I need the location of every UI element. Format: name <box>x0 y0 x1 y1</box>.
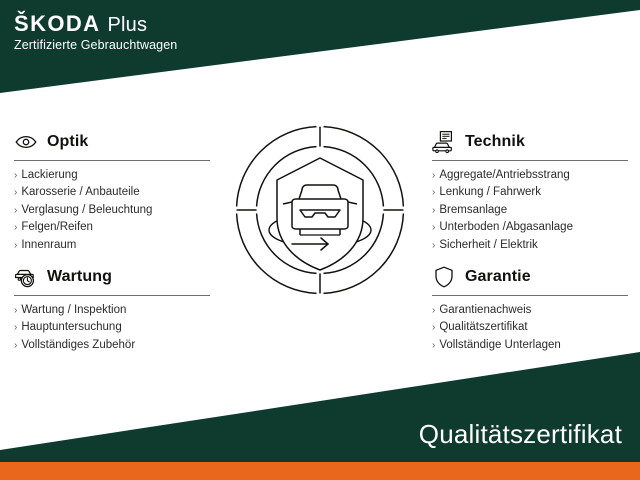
list-item: ›Vollständige Unterlagen <box>432 337 632 354</box>
brand-subtitle: Zertifizierte Gebrauchtwagen <box>14 39 177 53</box>
section-technik: Technik ›Aggregate/Antriebsstrang ›Lenku… <box>432 129 632 254</box>
chevron-right-icon: › <box>14 168 17 184</box>
chevron-right-icon: › <box>14 185 17 201</box>
chevron-right-icon: › <box>432 185 435 201</box>
section-garantie-list: ›Garantienachweis ›Qualitätszertifikat ›… <box>432 296 632 354</box>
chevron-right-icon: › <box>14 338 17 354</box>
chevron-right-icon: › <box>14 203 17 219</box>
list-item: ›Bremsanlage <box>432 202 632 219</box>
chevron-right-icon: › <box>432 168 435 184</box>
chevron-right-icon: › <box>14 303 17 319</box>
section-optik-title: Optik <box>47 134 88 150</box>
list-item-label: Wartung / Inspektion <box>21 302 126 318</box>
chevron-right-icon: › <box>432 303 435 319</box>
footer-title: Qualitätszertifikat <box>419 421 622 447</box>
list-item: ›Garantienachweis <box>432 302 632 319</box>
brand-name-row: ŠKODA Plus <box>14 13 177 35</box>
list-item-label: Felgen/Reifen <box>21 219 93 235</box>
car-service-clock-icon <box>14 265 38 289</box>
section-optik-header: Optik <box>14 129 214 155</box>
list-item: ›Unterboden /Abgasanlage <box>432 219 632 236</box>
list-item-label: Garantienachweis <box>439 302 531 318</box>
list-item-label: Verglasung / Beleuchtung <box>21 202 152 218</box>
brand-lockup: ŠKODA Plus Zertifizierte Gebrauchtwagen <box>14 13 177 53</box>
list-item: ›Sicherheit / Elektrik <box>432 237 632 254</box>
list-item-label: Vollständige Unterlagen <box>439 337 560 353</box>
list-item: ›Verglasung / Beleuchtung <box>14 202 214 219</box>
section-technik-list: ›Aggregate/Antriebsstrang ›Lenkung / Fah… <box>432 161 632 254</box>
section-optik-list: ›Lackierung ›Karosserie / Anbauteile ›Ve… <box>14 161 214 254</box>
list-item: ›Qualitätszertifikat <box>432 319 632 336</box>
list-item-label: Vollständiges Zubehör <box>21 337 135 353</box>
section-wartung: Wartung ›Wartung / Inspektion ›Hauptunte… <box>14 264 214 354</box>
car-document-icon <box>432 130 456 154</box>
section-optik: Optik ›Lackierung ›Karosserie / Anbautei… <box>14 129 214 254</box>
shield-icon <box>432 265 456 289</box>
chevron-right-icon: › <box>432 338 435 354</box>
car-body <box>292 199 348 229</box>
section-wartung-list: ›Wartung / Inspektion ›Hauptuntersuchung… <box>14 296 214 354</box>
list-item-label: Qualitätszertifikat <box>439 319 527 335</box>
section-garantie: Garantie ›Garantienachweis ›Qualitätszer… <box>432 264 632 354</box>
chevron-right-icon: › <box>14 320 17 336</box>
chevron-right-icon: › <box>432 220 435 236</box>
list-item-label: Karosserie / Anbauteile <box>21 184 139 200</box>
brand-name: ŠKODA <box>14 13 100 35</box>
section-technik-title: Technik <box>465 134 525 150</box>
section-technik-header: Technik <box>432 129 632 155</box>
list-item-label: Aggregate/Antriebsstrang <box>439 167 569 183</box>
chevron-right-icon: › <box>14 220 17 236</box>
section-garantie-title: Garantie <box>465 269 531 285</box>
list-item: ›Innenraum <box>14 237 214 254</box>
eye-icon <box>14 130 38 154</box>
list-item-label: Bremsanlage <box>439 202 507 218</box>
list-item: ›Wartung / Inspektion <box>14 302 214 319</box>
list-item: ›Felgen/Reifen <box>14 219 214 236</box>
list-item: ›Hauptuntersuchung <box>14 319 214 336</box>
list-item-label: Hauptuntersuchung <box>21 319 121 335</box>
list-item-label: Lackierung <box>21 167 77 183</box>
section-garantie-header: Garantie <box>432 264 632 290</box>
list-item: ›Aggregate/Antriebsstrang <box>432 167 632 184</box>
list-item: ›Vollständiges Zubehör <box>14 337 214 354</box>
chevron-right-icon: › <box>432 320 435 336</box>
list-item-label: Unterboden /Abgasanlage <box>439 219 573 235</box>
section-wartung-header: Wartung <box>14 264 214 290</box>
list-item-label: Lenkung / Fahrwerk <box>439 184 541 200</box>
chevron-right-icon: › <box>14 238 17 254</box>
list-item-label: Sicherheit / Elektrik <box>439 237 537 253</box>
list-item: ›Lackierung <box>14 167 214 184</box>
list-item: ›Lenkung / Fahrwerk <box>432 184 632 201</box>
chevron-right-icon: › <box>432 238 435 254</box>
certificate-canvas: ŠKODA Plus Zertifizierte Gebrauchtwagen … <box>0 0 640 480</box>
section-wartung-title: Wartung <box>47 269 112 285</box>
list-item: ›Karosserie / Anbauteile <box>14 184 214 201</box>
chevron-right-icon: › <box>432 203 435 219</box>
orange-accent-bar <box>0 462 640 480</box>
list-item-label: Innenraum <box>21 237 76 253</box>
brand-plus-label: Plus <box>107 15 147 35</box>
certified-vehicle-shield-emblem <box>232 122 408 298</box>
